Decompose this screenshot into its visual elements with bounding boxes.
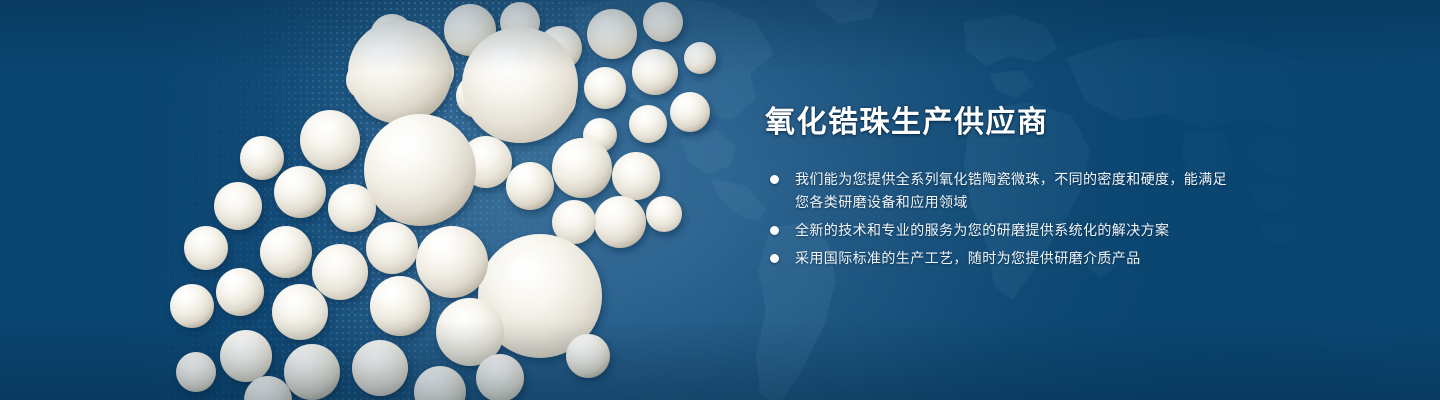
list-item: 采用国际标准的生产工艺，随时为您提供研磨介质产品 (765, 247, 1235, 270)
filled-circle-bullet-icon (770, 254, 779, 263)
list-item-label: 采用国际标准的生产工艺，随时为您提供研磨介质产品 (795, 250, 1141, 266)
list-item-label: 我们能为您提供全系列氧化锆陶瓷微珠，不同的密度和硬度，能满足您各类研磨设备和应用… (795, 171, 1227, 210)
page-title: 氧化锆珠生产供应商 (765, 104, 1235, 142)
filled-circle-bullet-icon (770, 175, 779, 184)
list-item-label: 全新的技术和专业的服务为您的研磨提供系统化的解决方案 (795, 222, 1169, 238)
hero-banner: 氧化锆珠生产供应商 我们能为您提供全系列氧化锆陶瓷微珠，不同的密度和硬度，能满足… (0, 0, 1440, 400)
feature-list: 我们能为您提供全系列氧化锆陶瓷微珠，不同的密度和硬度，能满足您各类研磨设备和应用… (765, 168, 1235, 270)
list-item: 我们能为您提供全系列氧化锆陶瓷微珠，不同的密度和硬度，能满足您各类研磨设备和应用… (765, 168, 1235, 214)
banner-copy-block: 氧化锆珠生产供应商 我们能为您提供全系列氧化锆陶瓷微珠，不同的密度和硬度，能满足… (765, 104, 1235, 270)
filled-circle-bullet-icon (770, 226, 779, 235)
list-item: 全新的技术和专业的服务为您的研磨提供系统化的解决方案 (765, 219, 1235, 242)
